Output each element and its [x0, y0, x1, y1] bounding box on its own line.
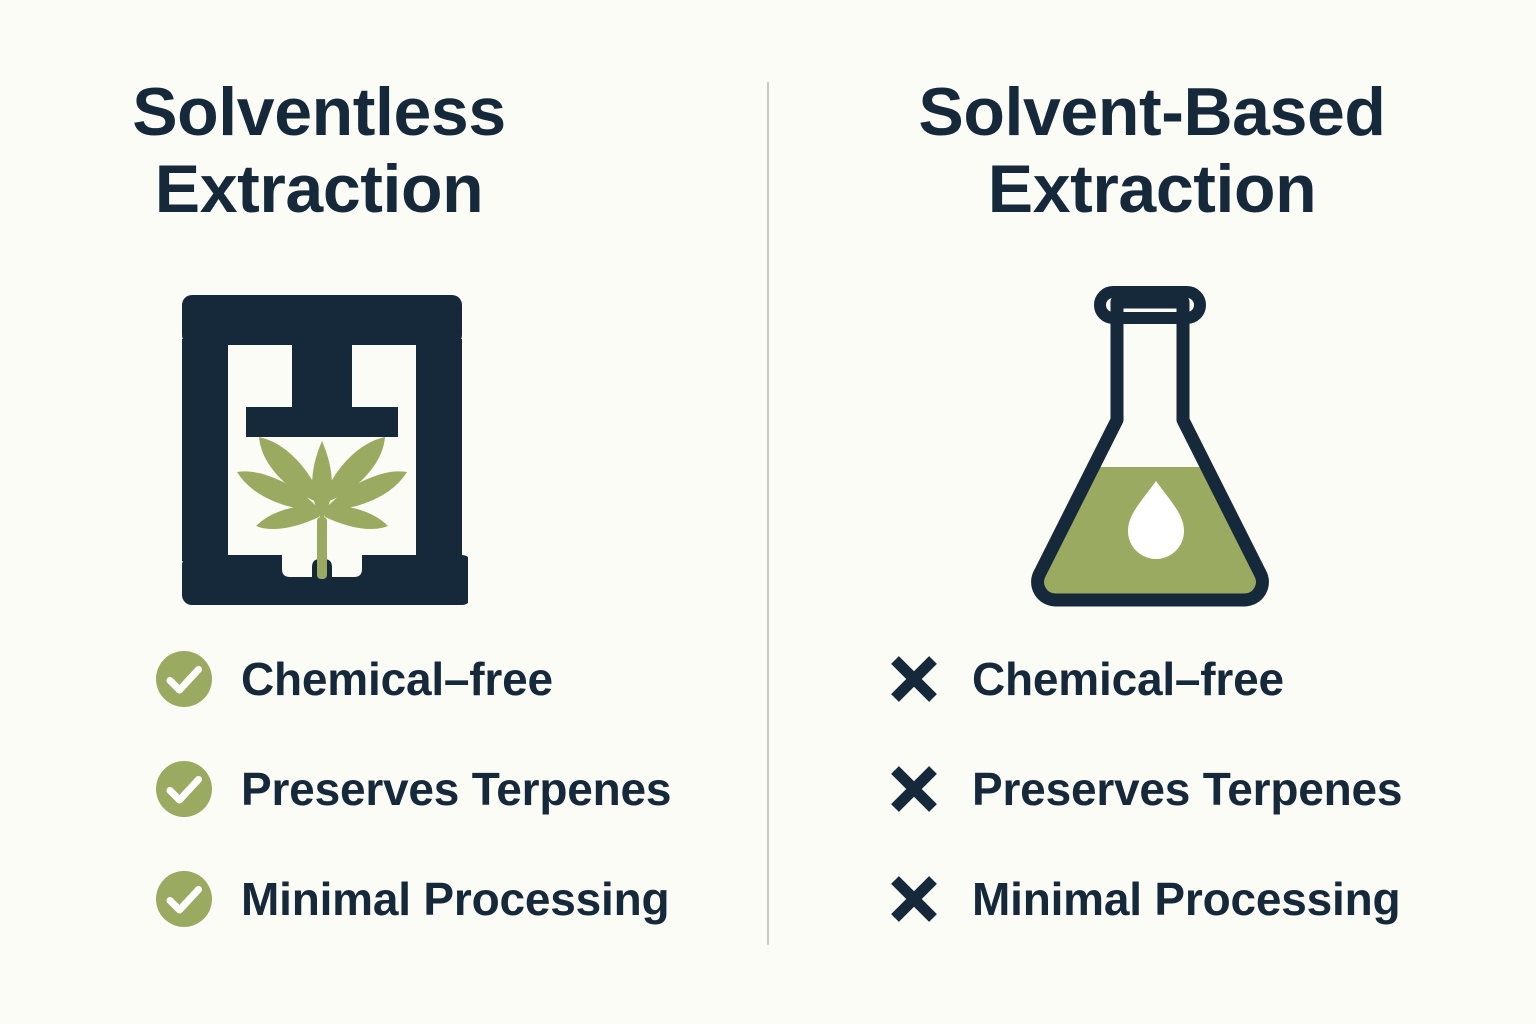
list-item: Minimal Processing — [886, 868, 1536, 930]
cross-icon — [886, 871, 942, 927]
list-item: Minimal Processing — [155, 868, 768, 930]
feature-label: Chemical–free — [972, 656, 1284, 702]
check-circle-icon — [155, 650, 213, 708]
list-item: Chemical–free — [155, 648, 768, 710]
erlenmeyer-flask-icon — [1014, 285, 1286, 615]
page-title-solvent-based: Solvent-Based Extraction — [768, 74, 1536, 228]
check-circle-icon — [155, 760, 213, 818]
feature-label: Chemical–free — [241, 656, 553, 702]
feature-label: Minimal Processing — [241, 876, 669, 922]
column-solvent-based: Solvent-Based Extraction — [768, 0, 1536, 1024]
feature-list-solventless: Chemical–free Preserves Terpenes — [0, 648, 768, 930]
icon-area-solventless — [0, 285, 768, 615]
list-item: Preserves Terpenes — [155, 758, 768, 820]
rosin-press-icon — [176, 289, 468, 611]
list-item: Preserves Terpenes — [886, 758, 1536, 820]
heading-line-1: Solventless — [0, 74, 638, 151]
check-circle-icon — [155, 870, 213, 928]
column-solventless: Solventless Extraction — [0, 0, 768, 1024]
heading-line-1: Solvent-Based — [808, 74, 1496, 151]
feature-label: Preserves Terpenes — [972, 766, 1402, 812]
feature-label: Minimal Processing — [972, 876, 1400, 922]
cross-icon — [886, 761, 942, 817]
heading-line-2: Extraction — [808, 151, 1496, 228]
icon-area-solvent-based — [768, 285, 1536, 615]
comparison-infographic: Solventless Extraction — [0, 0, 1536, 1024]
page-title-solventless: Solventless Extraction — [0, 74, 768, 228]
list-item: Chemical–free — [886, 648, 1536, 710]
cross-icon — [886, 651, 942, 707]
heading-line-2: Extraction — [0, 151, 638, 228]
feature-list-solvent-based: Chemical–free Preserves Terpenes — [768, 648, 1536, 930]
feature-label: Preserves Terpenes — [241, 766, 671, 812]
